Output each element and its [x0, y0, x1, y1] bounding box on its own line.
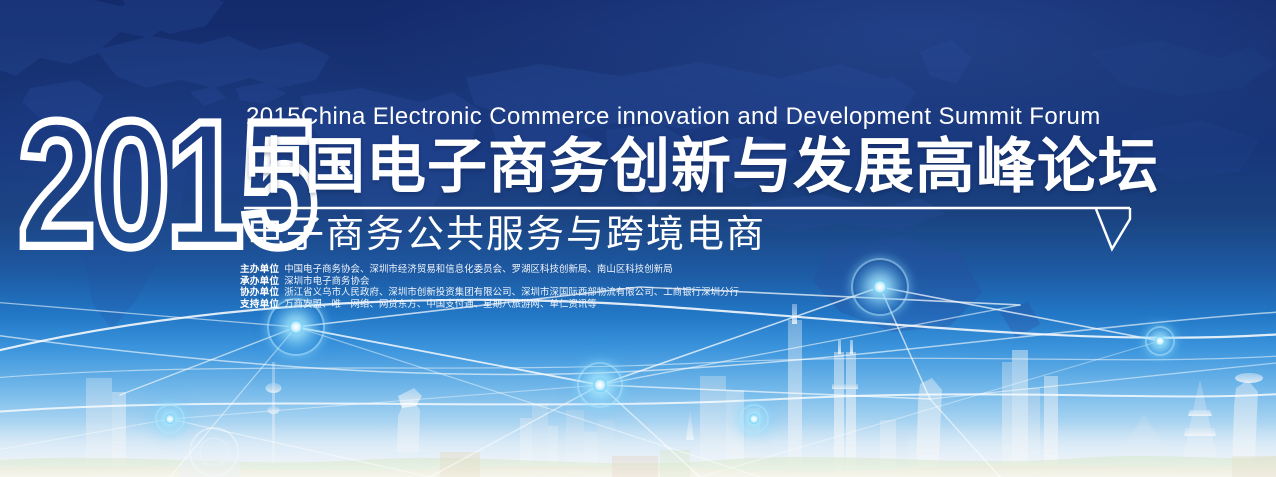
organizer-value: 万商安盟、唯一网络、网贷东方、中国支付通、星期八旅游网、单仁资讯等 — [284, 296, 597, 310]
organizer-list: 主办单位 中国电子商务协会、深圳市经济贸易和信息化委员会、罗湖区科技创新局、南山… — [240, 261, 1200, 307]
banner-content: 2015 2015China Electronic Commerce innov… — [0, 0, 1276, 477]
organizer-row: 协办单位 浙江省义乌市人民政府、深圳市创新投资集团有限公司、深圳市深国际西部物流… — [240, 284, 1200, 295]
organizer-label: 支持单位 — [240, 296, 279, 310]
subtitle-chinese: 电子商务公共服务与跨境电商 — [246, 211, 766, 257]
main-title-chinese: 中国电子商务创新与发展高峰论坛 — [244, 134, 1159, 200]
organizer-row: 主办单位 中国电子商务协会、深圳市经济贸易和信息化委员会、罗湖区科技创新局、南山… — [240, 261, 1200, 272]
event-banner: 2015 2015China Electronic Commerce innov… — [0, 0, 1276, 477]
english-title: 2015China Electronic Commerce innovation… — [246, 103, 1101, 131]
